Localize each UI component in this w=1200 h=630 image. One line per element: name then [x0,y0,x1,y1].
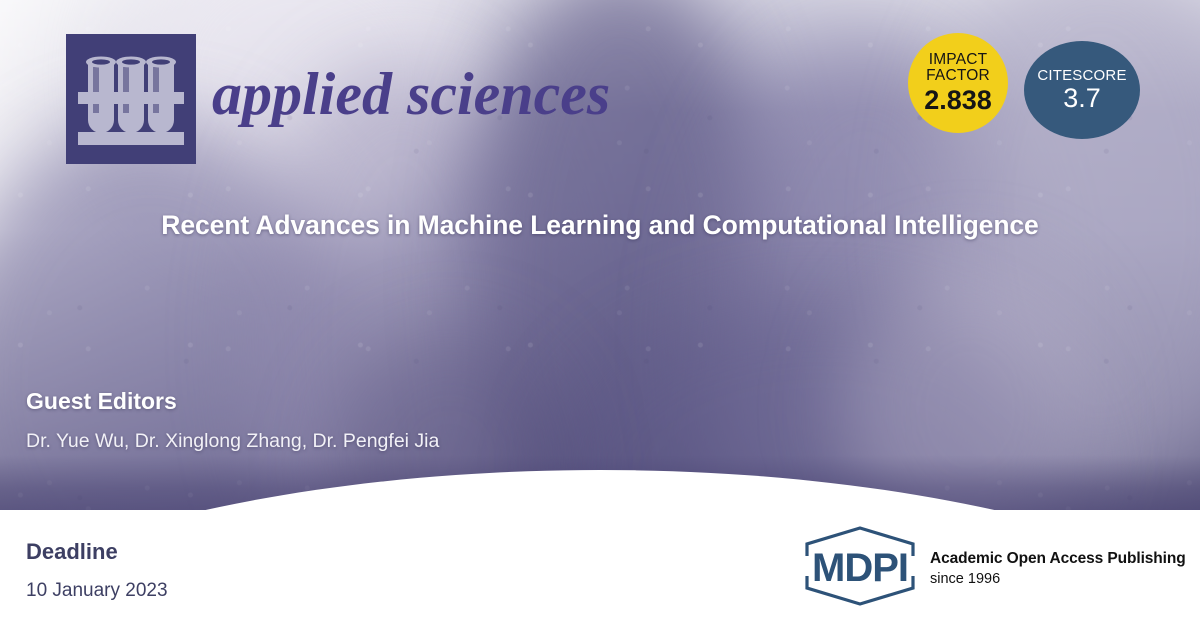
guest-editors-heading: Guest Editors [26,388,177,415]
special-issue-title: Recent Advances in Machine Learning and … [0,210,1200,241]
citescore-value: 3.7 [1063,85,1101,113]
mdpi-logo[interactable]: MDPI [793,526,928,606]
journal-logo[interactable] [66,34,196,164]
publisher-tagline: Academic Open Access Publishing [930,550,1186,568]
guest-editors-names: Dr. Yue Wu, Dr. Xinglong Zhang, Dr. Peng… [26,430,439,453]
citescore-badge[interactable]: CITESCORE 3.7 [1024,41,1140,139]
publisher-since: since 1996 [930,571,1186,587]
mdpi-hexagon-icon: MDPI [793,526,928,606]
impact-factor-label-line2: FACTOR [926,68,990,84]
svg-text:MDPI: MDPI [812,546,908,590]
impact-factor-label-line1: IMPACT [929,52,988,68]
footer-bar: Deadline 10 January 2023 MDPI Academic O… [0,510,1200,630]
citescore-label: CITESCORE [1037,68,1126,83]
impact-factor-badge[interactable]: IMPACT FACTOR 2.838 [908,33,1008,133]
special-issue-banner: applied sciences IMPACT FACTOR 2.838 CIT… [0,0,1200,630]
journal-wordmark: applied sciences [212,60,610,129]
deadline-value: 10 January 2023 [26,580,168,602]
publisher-tagline-block: Academic Open Access Publishing since 19… [930,550,1186,587]
deadline-label: Deadline [26,539,118,565]
test-tube-rack-icon [66,34,196,164]
impact-factor-value: 2.838 [924,87,992,115]
